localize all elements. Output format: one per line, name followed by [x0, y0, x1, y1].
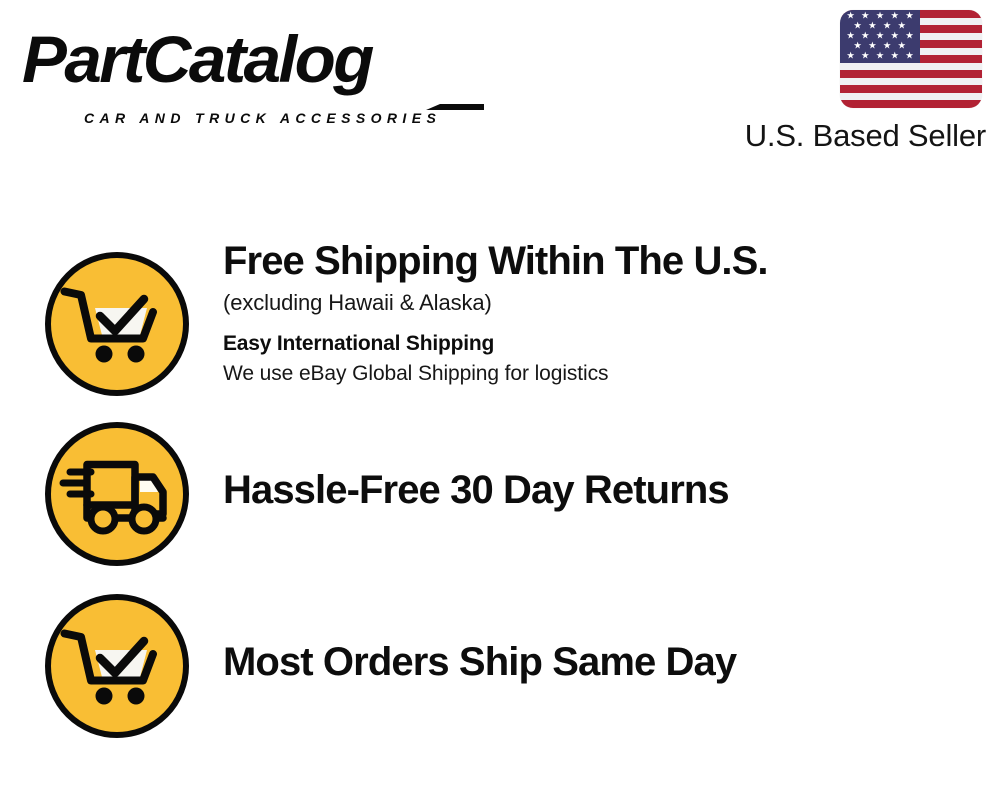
brand-tagline: CAR AND TRUCK ACCESSORIES [84, 110, 441, 126]
flag-star-icon: ★ [890, 51, 899, 61]
us-based-seller-label: U.S. Based Seller [620, 118, 986, 154]
delivery-truck-icon [43, 420, 191, 568]
benefit-title: Free Shipping Within The U.S. [223, 238, 963, 284]
flag-star-icon: ★ [861, 51, 870, 61]
benefit-sub-heading: Easy International Shipping [223, 329, 963, 359]
flag-star-icon: ★ [905, 51, 914, 61]
benefit-text-free-shipping: Free Shipping Within The U.S. (excluding… [223, 238, 963, 389]
benefit-text-returns: Hassle-Free 30 Day Returns [223, 467, 963, 513]
flag-stripe [840, 100, 982, 108]
flag-stripe [840, 85, 982, 93]
flag-stripe [840, 78, 982, 86]
flag-stripe [840, 63, 982, 71]
flag-canton: ★★★★★★★★★★★★★★★★★★★★★★★ [840, 10, 920, 63]
benefit-subtitle: (excluding Hawaii & Alaska) [223, 288, 963, 318]
flag-star-icon: ★ [876, 51, 885, 61]
brand-logo: PartCatalog CAR AND TRUCK ACCESSORIES [22, 22, 492, 118]
brand-wordmark: PartCatalog [22, 22, 372, 96]
benefit-row-same-day-shipping: Most Orders Ship Same Day [0, 592, 1000, 742]
promo-banner: PartCatalog CAR AND TRUCK ACCESSORIES ★★… [0, 0, 1000, 800]
benefit-text-same-day: Most Orders Ship Same Day [223, 639, 963, 685]
benefit-title: Hassle-Free 30 Day Returns [223, 467, 963, 513]
benefit-title: Most Orders Ship Same Day [223, 639, 963, 685]
benefit-row-returns: Hassle-Free 30 Day Returns [0, 420, 1000, 570]
flag-stripe [840, 93, 982, 101]
shopping-cart-check-icon [43, 592, 191, 740]
flag-stripe [840, 70, 982, 78]
benefit-row-free-shipping: Free Shipping Within The U.S. (excluding… [0, 250, 1000, 415]
us-flag-icon: ★★★★★★★★★★★★★★★★★★★★★★★ [840, 10, 982, 108]
flag-star-icon: ★ [846, 51, 855, 61]
benefit-sub-detail: We use eBay Global Shipping for logistic… [223, 359, 963, 389]
shopping-cart-check-icon [43, 250, 191, 398]
